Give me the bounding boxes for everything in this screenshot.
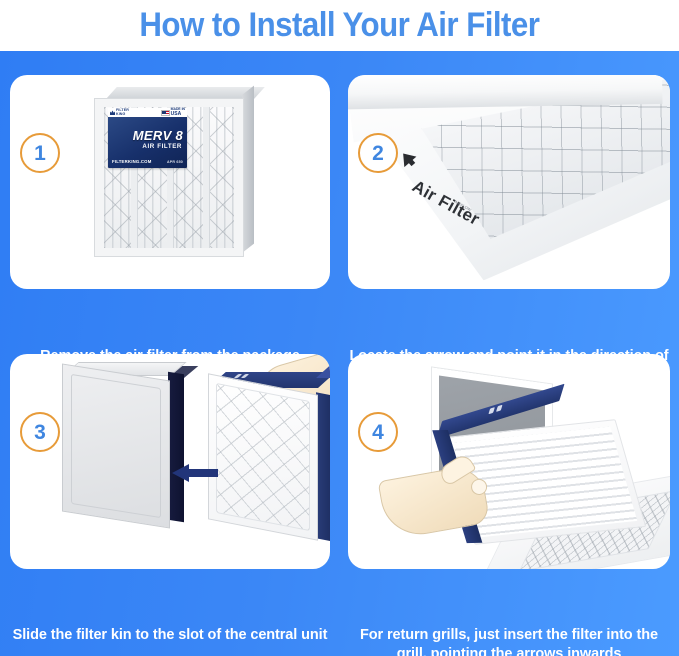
product-type-text: AIR FILTER	[108, 143, 182, 150]
label-footer: FILTERKING.COM APR 650	[112, 159, 183, 164]
made-in-usa-badge: MADE IN USA	[161, 108, 185, 117]
crown-icon	[110, 110, 115, 115]
made-in-usa-text: MADE IN USA	[171, 108, 185, 117]
step-badge-1: 1	[20, 133, 60, 173]
merv-rating-text: MERV 8	[108, 128, 183, 143]
filter-corner-photo: Air Filter AIRFLOW	[348, 75, 670, 289]
step-card-2: Air Filter AIRFLOW	[348, 75, 670, 289]
central-unit-slot	[62, 362, 192, 522]
filter-being-inserted	[208, 370, 330, 540]
filter-front-edge	[348, 75, 663, 109]
slot-dark-opening	[168, 372, 184, 523]
step-card-3	[10, 354, 330, 569]
step-2-illustration: Air Filter AIRFLOW	[348, 75, 670, 289]
step-badge-2: 2	[358, 133, 398, 173]
step-card-4	[348, 354, 670, 569]
brand-text: FILTER KING	[116, 109, 129, 117]
filter-pleat-pattern	[216, 383, 310, 531]
filter-front-face: MERV 8 AIR FILTER FILTERKING.COM APR 650	[94, 98, 244, 257]
page-header: How to Install Your Air Filter	[0, 0, 679, 51]
filter-rib	[203, 107, 210, 248]
air-filter-box: MERV 8 AIR FILTER FILTERKING.COM APR 650	[94, 87, 254, 257]
step-badge-3: 3	[20, 412, 60, 452]
filter-face	[208, 373, 318, 540]
step-badge-4: 4	[358, 412, 398, 452]
steps-canvas: MERV 8 AIR FILTER FILTERKING.COM APR 650	[0, 51, 679, 656]
filter-label-panel: MERV 8 AIR FILTER FILTERKING.COM APR 650	[108, 115, 187, 168]
step-4-illustration	[348, 354, 670, 569]
page-title: How to Install Your Air Filter	[140, 6, 540, 45]
filter-king-logo: FILTER KING	[110, 109, 129, 117]
step-caption-4: For return grills, just insert the filte…	[348, 626, 670, 656]
arrow-head	[172, 464, 189, 482]
arrow-shaft	[188, 469, 218, 477]
step-1-illustration: MERV 8 AIR FILTER FILTERKING.COM APR 650	[10, 75, 330, 289]
slot-front-face	[62, 363, 170, 528]
filter-side-edge	[316, 392, 330, 541]
insert-direction-arrow	[172, 464, 218, 482]
step-card-1: MERV 8 AIR FILTER FILTERKING.COM APR 650	[10, 75, 330, 289]
label-header-strip: FILTER KING MADE IN USA	[108, 108, 187, 117]
infographic-page: How to Install Your Air Filter MERV 8	[0, 0, 679, 656]
slot-inner-border	[71, 374, 161, 518]
usa-flag-icon	[161, 110, 170, 116]
step-3-illustration	[10, 354, 330, 569]
apr-rating-text: APR 650	[167, 160, 183, 164]
step-caption-3: Slide the filter kin to the slot of the …	[10, 626, 330, 645]
website-text: FILTERKING.COM	[112, 159, 151, 164]
